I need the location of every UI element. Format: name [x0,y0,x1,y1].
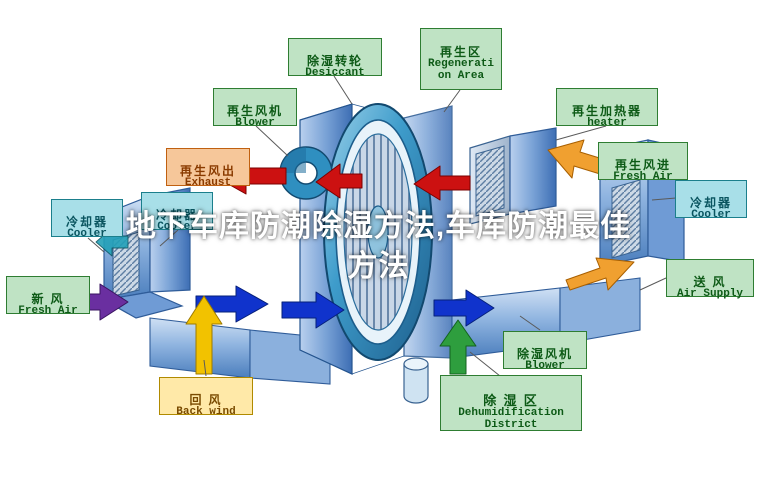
label-regeneration-fresh-air: 再生风进Fresh Air [598,142,688,180]
label-cooler-left: 冷却器Cooler [51,199,123,237]
label-supply-air: 送 风Air Supply [666,259,754,297]
regeneration-blower-rotor [280,147,332,199]
label-fresh-air-inlet: 新 风Fresh Air [6,276,90,314]
label-desiccant-wheel: 除湿转轮Desiccant [288,38,382,76]
diagram-canvas: 除湿转轮Desiccant 再生区Regenerati on Area 再生风机… [0,0,757,488]
label-regeneration-exhaust: 再生风出Exhaust [166,148,250,186]
label-regeneration-heater: 再生加热器heater [556,88,658,126]
desiccant-wheel-graphic [324,104,432,360]
label-cooler-right: 冷却器Cooler [675,180,747,218]
label-regeneration-blower: 再生风机Blower [213,88,297,126]
label-cooler-mid: 冷却器Cooler [141,192,213,230]
label-dehumidification-district: 除 湿 区Dehumidification District [440,375,582,431]
regeneration-heater-block [470,128,556,224]
label-dehumidify-blower: 除湿风机Blower [503,331,587,369]
drain-cylinder [404,358,428,403]
label-regeneration-area: 再生区Regenerati on Area [420,28,502,90]
label-back-wind: 回 风Back wind [159,377,253,415]
